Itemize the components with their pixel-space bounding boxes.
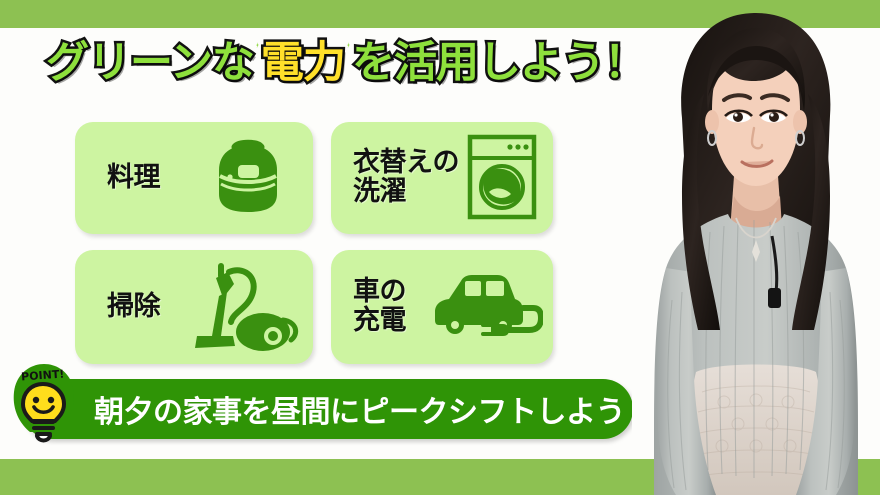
activity-card-laundry[interactable]: 衣替えの 洗濯: [331, 122, 553, 234]
lightbulb-smiley-icon: [23, 384, 64, 441]
card-label: 料理: [107, 164, 160, 193]
lightning-bolt-icon: [347, 42, 350, 88]
point-banner: 朝夕の家事を昼間にピークシフトしよう: [22, 379, 633, 439]
point-banner-text: 朝夕の家事を昼間にピークシフトしよう: [94, 379, 625, 439]
title-part-one: グリーンな: [46, 42, 254, 85]
lightning-bolt-icon: [256, 42, 259, 88]
point-badge: POINT!: [6, 362, 80, 446]
title-part-three: を活用しよう！: [352, 42, 646, 85]
title-part-two: 電力: [261, 42, 345, 85]
card-label: 衣替えの 洗濯: [353, 149, 459, 206]
card-label: 掃除: [107, 293, 160, 322]
activity-card-ev-charging[interactable]: 車の 充電: [331, 250, 553, 364]
broadcast-graphic-stage: グリーンな 電力 を活用しよう！ 料理: [0, 0, 880, 495]
vacuum-cleaner-icon: [181, 258, 301, 356]
activity-card-cooking[interactable]: 料理: [75, 122, 313, 234]
card-label: 車の 充電: [353, 278, 406, 335]
activity-card-vacuuming[interactable]: 掃除: [75, 250, 313, 364]
presenter-video-region: [632, 0, 880, 495]
presenter-figure: [632, 0, 880, 495]
ev-charging-car-icon: [431, 268, 543, 346]
rice-cooker-icon: [205, 136, 291, 220]
washing-machine-icon: [465, 132, 539, 222]
page-title: グリーンな 電力 を活用しよう！: [46, 32, 646, 94]
